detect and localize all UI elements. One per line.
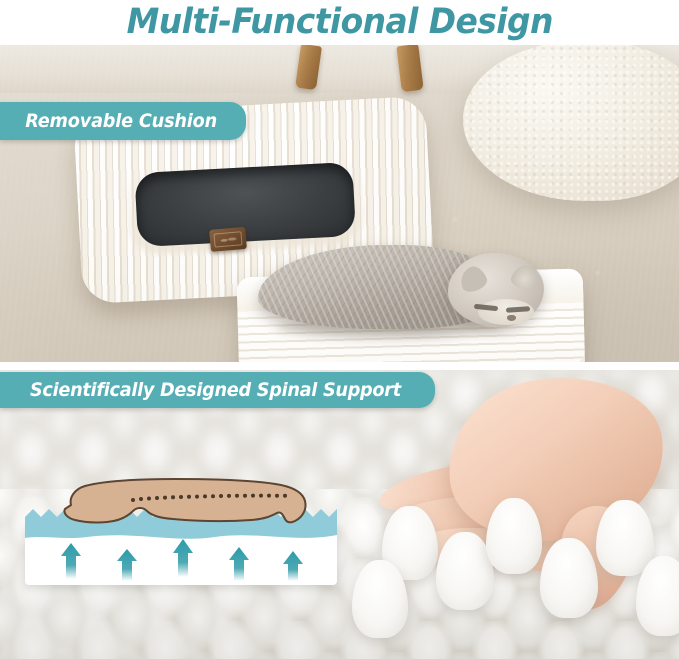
sleeping-cat: [258, 231, 550, 331]
product-infographic: Multi-Functional Design: [0, 0, 679, 659]
spinal-support-diagram: [25, 497, 337, 585]
section-divider: [0, 362, 679, 370]
page-header: Multi-Functional Design: [0, 0, 679, 44]
page-title: Multi-Functional Design: [126, 5, 552, 40]
foam-cone: [352, 560, 408, 638]
support-arrow: [173, 539, 193, 577]
photo-removable-cushion: Removable Cushion: [0, 45, 679, 362]
foam-cone: [540, 538, 598, 618]
badge-label: Removable Cushion: [25, 110, 217, 132]
cat-nose: [507, 315, 516, 321]
dog-silhouette: [55, 475, 317, 537]
cat-ear: [509, 262, 541, 292]
support-arrow: [229, 547, 249, 581]
support-arrows: [25, 537, 337, 581]
cat-ear: [456, 263, 489, 295]
leather-brand-tag: [209, 227, 247, 252]
support-arrow: [283, 551, 303, 581]
support-arrow: [61, 543, 81, 579]
foam-cone: [596, 500, 654, 576]
cat-head: [448, 253, 544, 327]
brand-logo-icon: [213, 231, 242, 247]
support-arrow: [117, 549, 137, 581]
badge-spinal-support: Scientifically Designed Spinal Support: [0, 372, 435, 408]
badge-removable-cushion: Removable Cushion: [0, 102, 246, 140]
badge-label: Scientifically Designed Spinal Support: [30, 379, 401, 401]
foam-cone: [486, 498, 542, 574]
